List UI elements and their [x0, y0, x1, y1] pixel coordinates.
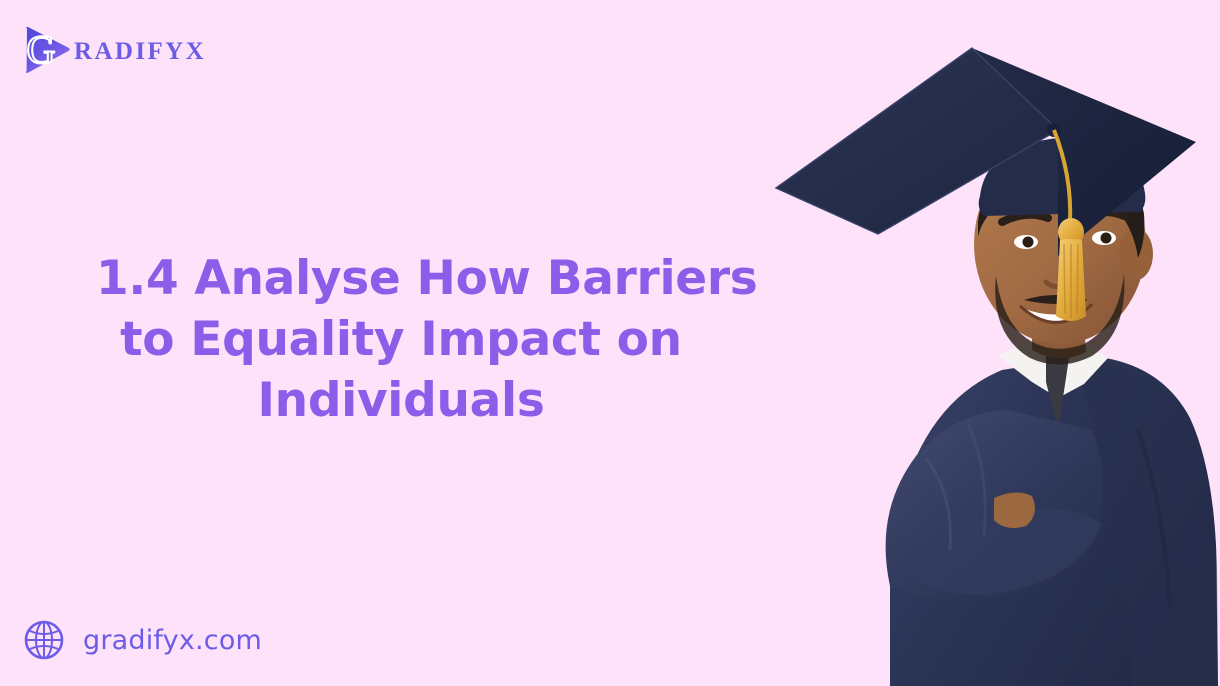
- footer-website-url[interactable]: gradifyx.com: [83, 627, 262, 654]
- svg-text:G: G: [27, 27, 56, 72]
- page-title: 1.4 Analyse How Barriers to Equality Imp…: [96, 248, 706, 431]
- slide-canvas: G RADIFYX 1.4 Analyse How Barriers to Eq…: [0, 0, 1220, 686]
- gradifyx-play-g-icon: G: [18, 22, 76, 78]
- footer[interactable]: gradifyx.com: [22, 618, 262, 662]
- graduate-photo: [740, 26, 1220, 686]
- title-line-3: Individuals: [96, 370, 706, 431]
- brand-wordmark: RADIFYX: [74, 39, 206, 64]
- title-line-2: to Equality Impact on: [96, 309, 706, 370]
- globe-icon: [22, 618, 66, 662]
- title-line-1: 1.4 Analyse How Barriers: [96, 248, 706, 309]
- brand-logo[interactable]: G RADIFYX: [18, 22, 206, 78]
